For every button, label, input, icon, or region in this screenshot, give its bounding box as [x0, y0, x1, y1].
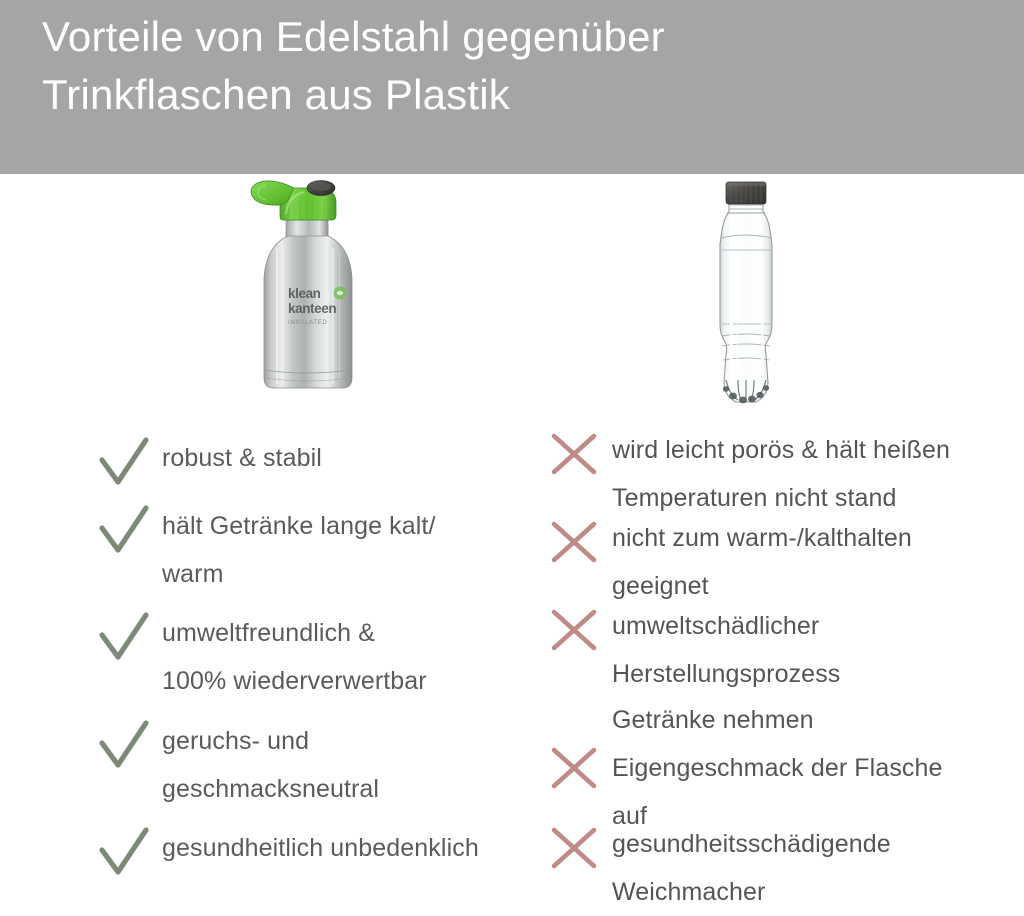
check-icon	[96, 824, 162, 880]
list-item: geruchs- und geschmacksneutral	[96, 717, 379, 813]
list-item-label: robust & stabil	[162, 434, 322, 482]
list-item-label: umweltfreundlich & 100% wiederverwertbar	[162, 609, 427, 705]
plastic-bottle-body	[720, 202, 772, 403]
stainless-steel-bottle-image: klean kanteen INSULATED	[236, 174, 386, 424]
green-sport-cap	[251, 181, 336, 221]
list-item-label: nicht zum warm-/kalthalten geeignet	[612, 514, 912, 610]
page-title: Vorteile von Edelstahl gegenüber Trinkfl…	[42, 8, 942, 124]
list-item: gesundheitlich unbedenklich	[96, 824, 479, 880]
check-icon	[96, 717, 162, 773]
cross-icon	[546, 820, 612, 876]
svg-text:klean: klean	[288, 286, 321, 301]
list-item: hält Getränke lange kalt/ warm	[96, 502, 436, 598]
list-item: umweltfreundlich & 100% wiederverwertbar	[96, 609, 427, 705]
cross-icon	[546, 514, 612, 570]
check-icon	[96, 502, 162, 558]
cross-icon	[546, 426, 612, 482]
list-item-label: geruchs- und geschmacksneutral	[162, 717, 379, 813]
list-item-label: umweltschädlicher Herstellungsprozess	[612, 602, 840, 698]
list-item: gesundheitsschädigende Weichmacher	[546, 820, 891, 916]
plastic-bottle-cap	[726, 182, 766, 204]
list-item-label: wird leicht porös & hält heißen Temperat…	[612, 426, 950, 522]
list-item: nicht zum warm-/kalthalten geeignet	[546, 514, 912, 610]
plastic-bottle-image	[686, 174, 806, 424]
list-item-label: gesundheitsschädigende Weichmacher	[612, 820, 891, 916]
comparison-columns: robust & stabil hält Getränke lange kalt…	[0, 424, 1024, 897]
list-item-label: hält Getränke lange kalt/ warm	[162, 502, 436, 598]
svg-text:INSULATED: INSULATED	[288, 320, 328, 326]
list-item: umweltschädlicher Herstellungsprozess	[546, 602, 840, 698]
list-item: wird leicht porös & hält heißen Temperat…	[546, 426, 950, 522]
product-images-strip: klean kanteen INSULATED	[0, 174, 1024, 424]
list-item-label: Getränke nehmen Eigengeschmack der Flasc…	[612, 696, 943, 840]
list-item-label: gesundheitlich unbedenklich	[162, 824, 479, 872]
list-item: robust & stabil	[96, 434, 322, 490]
header-band: Vorteile von Edelstahl gegenüber Trinkfl…	[0, 0, 1024, 174]
svg-text:kanteen: kanteen	[288, 301, 336, 316]
check-icon	[96, 434, 162, 490]
cross-icon	[546, 602, 612, 658]
check-icon	[96, 609, 162, 665]
cross-icon	[546, 740, 612, 796]
list-item: Getränke nehmen Eigengeschmack der Flasc…	[546, 696, 943, 840]
